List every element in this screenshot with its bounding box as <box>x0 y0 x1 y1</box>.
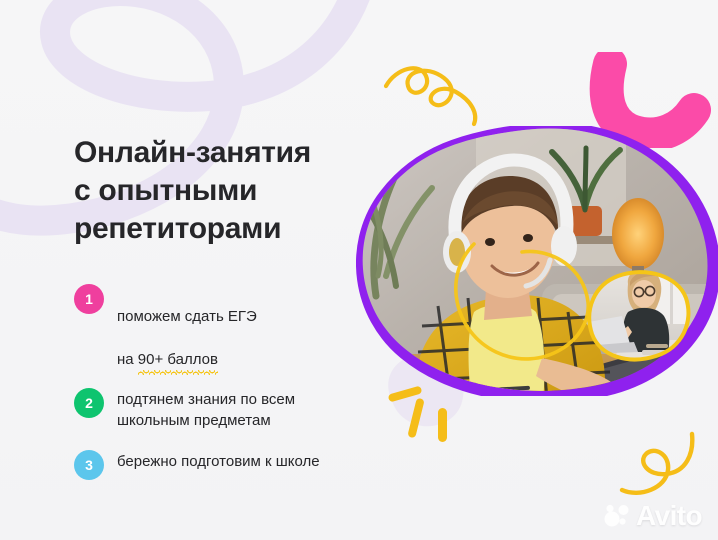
benefit-number-badge-3: 3 <box>74 450 104 480</box>
list-item: 3 бережно подготовим к школе <box>74 449 394 480</box>
page-title: Онлайн-занятия с опытными репетиторами <box>74 134 374 248</box>
promo-banner: Онлайн-занятия с опытными репетиторами 1… <box>0 0 718 540</box>
avito-watermark: Avito <box>604 502 702 530</box>
benefit-text-2: подтянем знания по всем школьным предмет… <box>117 387 295 432</box>
pink-hook-decoration <box>588 52 718 148</box>
yellow-squiggle-decoration-top <box>382 56 502 140</box>
avito-watermark-label: Avito <box>636 502 702 530</box>
list-item: 1 поможем сдать ЕГЭ на 90+ баллов <box>74 283 394 370</box>
hero-photo-blob <box>356 126 718 396</box>
benefit-number-badge-2: 2 <box>74 388 104 418</box>
benefit-text-1-line1: поможем сдать ЕГЭ <box>117 308 257 325</box>
benefit-text-3: бережно подготовим к школе <box>117 449 320 472</box>
benefit-text-1: поможем сдать ЕГЭ на 90+ баллов <box>117 283 257 370</box>
avito-logo-icon <box>604 504 630 528</box>
benefit-number-badge-1: 1 <box>74 284 104 314</box>
yellow-squiggle-decoration-bottom <box>612 424 712 504</box>
benefit-highlight-score: 90+ баллов <box>138 349 218 370</box>
benefit-text-1-line2-prefix: на <box>117 351 138 368</box>
list-item: 2 подтянем знания по всем школьным предм… <box>74 387 394 432</box>
benefits-list: 1 поможем сдать ЕГЭ на 90+ баллов 2 подт… <box>74 283 394 480</box>
